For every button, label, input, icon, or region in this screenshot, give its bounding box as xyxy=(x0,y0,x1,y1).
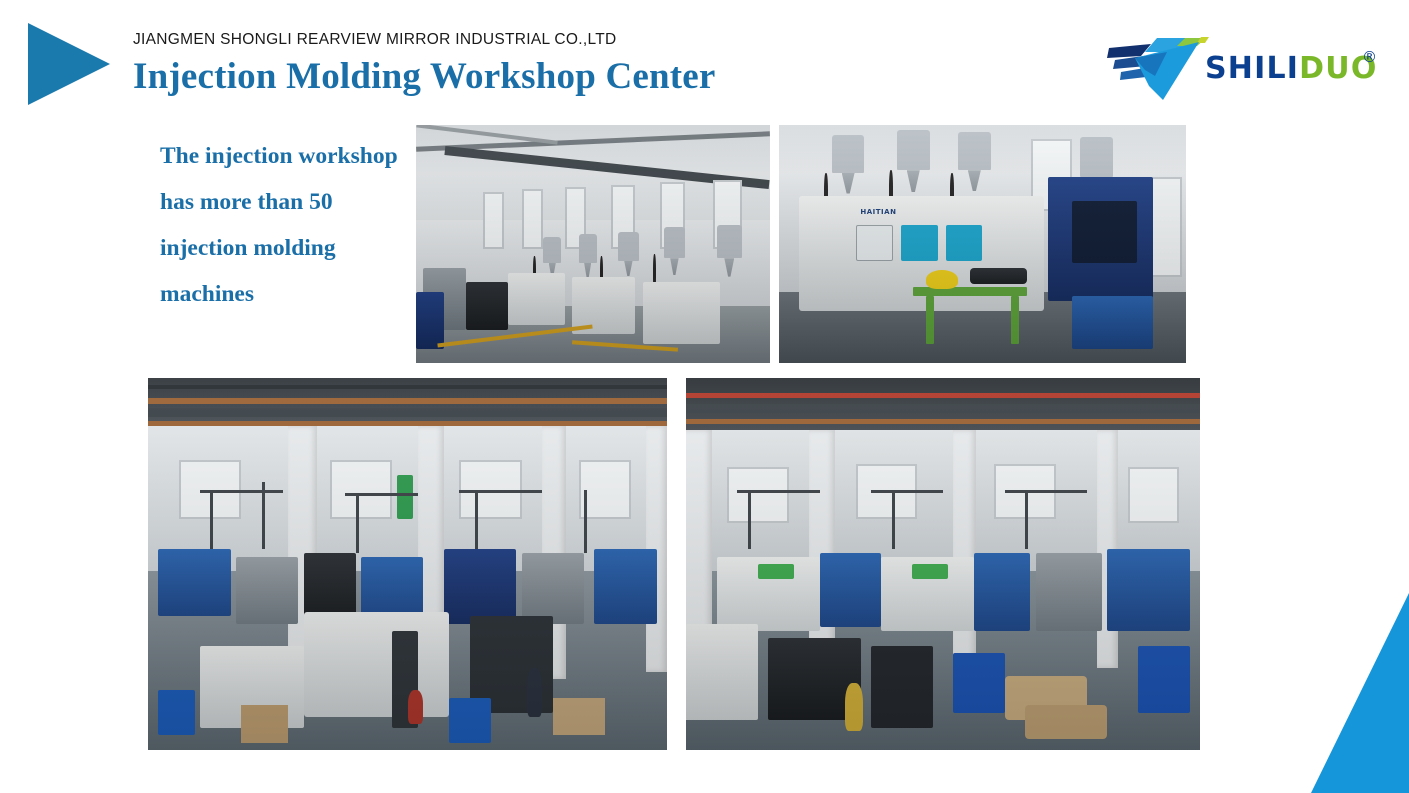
logo-wordmark-primary: SHILI xyxy=(1205,51,1299,86)
worker-figure xyxy=(527,668,543,716)
workshop-photo-top-right: HAITIAN xyxy=(779,125,1186,363)
workshop-photo-top-left xyxy=(416,125,770,363)
registered-trademark-icon: ® xyxy=(1362,48,1377,66)
play-triangle-icon xyxy=(28,23,110,105)
machine-brand-label: HAITIAN xyxy=(860,208,896,216)
bottom-right-corner-wedge xyxy=(1311,593,1409,793)
photo-artwork xyxy=(416,125,770,363)
brand-logo: SHILIDUO ® xyxy=(1105,36,1390,106)
caption-text: The injection workshop has more than 50 … xyxy=(160,133,415,317)
logo-wordmark: SHILIDUO xyxy=(1205,54,1378,84)
worker-figure xyxy=(845,683,863,731)
presentation-slide: JIANGMEN SHONGLI REARVIEW MIRROR INDUSTR… xyxy=(0,0,1409,793)
photo-artwork xyxy=(148,378,667,750)
workshop-photo-bottom-right xyxy=(686,378,1200,750)
workshop-photo-bottom-left xyxy=(148,378,667,750)
photo-artwork xyxy=(686,378,1200,750)
page-title: Injection Molding Workshop Center xyxy=(133,55,716,98)
worker-figure xyxy=(408,690,424,723)
swoosh-arrow-icon xyxy=(1105,36,1210,104)
hard-hat-icon xyxy=(926,270,959,289)
photo-artwork: HAITIAN xyxy=(779,125,1186,363)
company-name: JIANGMEN SHONGLI REARVIEW MIRROR INDUSTR… xyxy=(133,31,617,49)
